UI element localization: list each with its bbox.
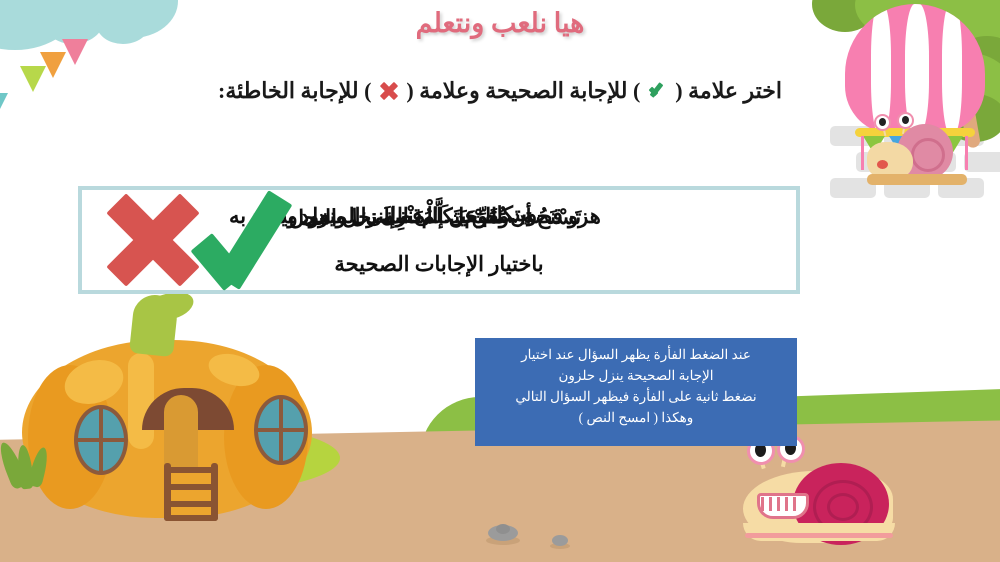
snail-character bbox=[735, 445, 910, 555]
balloon-basket bbox=[867, 174, 967, 185]
instruction-line: اختر علامة ( ) للإجابة الصحيحة وعلامة ( … bbox=[60, 78, 940, 104]
note-box: عند الضغط الفأرة يظهر السؤال عند اختيار … bbox=[475, 338, 797, 446]
instruction-part-1: اختر علامة ( bbox=[675, 78, 782, 103]
pumpkin-window-right bbox=[254, 395, 308, 465]
note-line-4: وهكذا ( امسح النص ) bbox=[475, 407, 797, 428]
instruction-part-3: ) للإجابة الخاطئة: bbox=[218, 78, 371, 103]
note-line-1: عند الضغط الفأرة يظهر السؤال عند اختيار bbox=[475, 344, 797, 365]
instruction-part-2: ) للإجابة الصحيحة وعلامة ( bbox=[406, 78, 640, 103]
slide-title: هيا نلعب ونتعلم bbox=[0, 8, 1000, 39]
pumpkin-window-left bbox=[74, 405, 128, 475]
note-line-3: نضغط ثانية على الفأرة فيظهر السؤال التال… bbox=[475, 386, 797, 407]
cross-mark-icon bbox=[378, 80, 400, 102]
answer-check-mark[interactable] bbox=[198, 192, 308, 292]
pumpkin-house bbox=[12, 295, 322, 525]
check-mark-icon bbox=[647, 80, 669, 102]
pumpkin-ladder bbox=[164, 463, 218, 521]
pumpkin-door bbox=[164, 395, 198, 473]
note-line-2: الإجابة الصحيحة ينزل حلزون bbox=[475, 365, 797, 386]
answer-cross-mark[interactable] bbox=[105, 192, 201, 288]
slide-canvas: هيا نلعب ونتعلم اختر علامة ( ) للإجابة ا… bbox=[0, 0, 1000, 562]
